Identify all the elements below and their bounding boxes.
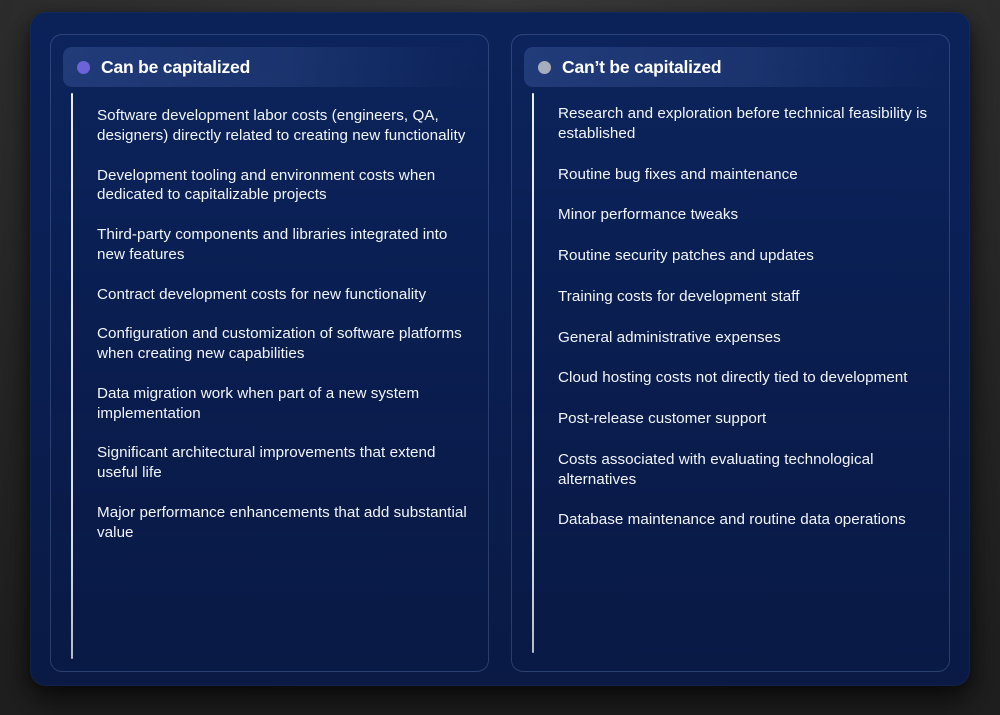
list-item: Database maintenance and routine data op… xyxy=(558,510,937,530)
filled-circle-icon xyxy=(77,61,90,74)
list-item: Routine bug fixes and maintenance xyxy=(558,165,937,185)
panel-header-can-be-capitalized: Can be capitalized xyxy=(63,47,476,87)
panel-can-be-capitalized: Can be capitalized Software development … xyxy=(50,34,489,672)
list-item: Training costs for development staff xyxy=(558,287,937,307)
list-item: Development tooling and environment cost… xyxy=(97,166,476,206)
filled-circle-icon xyxy=(538,61,551,74)
panel-title: Can be capitalized xyxy=(101,57,250,78)
list-item: Third-party components and libraries int… xyxy=(97,225,476,265)
list-item: Significant architectural improvements t… xyxy=(97,443,476,483)
list-item: Contract development costs for new funct… xyxy=(97,285,476,305)
list-item: Software development labor costs (engine… xyxy=(97,106,476,146)
list-item: Minor performance tweaks xyxy=(558,205,937,225)
vertical-rail xyxy=(532,93,534,653)
panel-cant-be-capitalized: Can’t be capitalized Research and explor… xyxy=(511,34,950,672)
list-container-can-be-capitalized: Software development labor costs (engine… xyxy=(63,93,476,542)
capitalizable-items-list: Software development labor costs (engine… xyxy=(97,93,476,542)
list-item: Research and exploration before technica… xyxy=(558,104,937,144)
list-item: Routine security patches and updates xyxy=(558,246,937,266)
page-background: Can be capitalized Software development … xyxy=(0,0,1000,715)
list-item: Cloud hosting costs not directly tied to… xyxy=(558,368,937,388)
list-container-cant-be-capitalized: Research and exploration before technica… xyxy=(524,93,937,530)
comparison-card: Can be capitalized Software development … xyxy=(30,12,970,686)
list-item: Costs associated with evaluating technol… xyxy=(558,450,937,490)
list-item: General administrative expenses xyxy=(558,328,937,348)
panel-title: Can’t be capitalized xyxy=(562,57,721,78)
non-capitalizable-items-list: Research and exploration before technica… xyxy=(558,93,937,530)
comparison-columns: Can be capitalized Software development … xyxy=(30,12,970,686)
vertical-rail xyxy=(71,93,73,659)
list-item: Major performance enhancements that add … xyxy=(97,503,476,543)
list-item: Post-release customer support xyxy=(558,409,937,429)
list-item: Data migration work when part of a new s… xyxy=(97,384,476,424)
list-item: Configuration and customization of softw… xyxy=(97,324,476,364)
panel-header-cant-be-capitalized: Can’t be capitalized xyxy=(524,47,937,87)
